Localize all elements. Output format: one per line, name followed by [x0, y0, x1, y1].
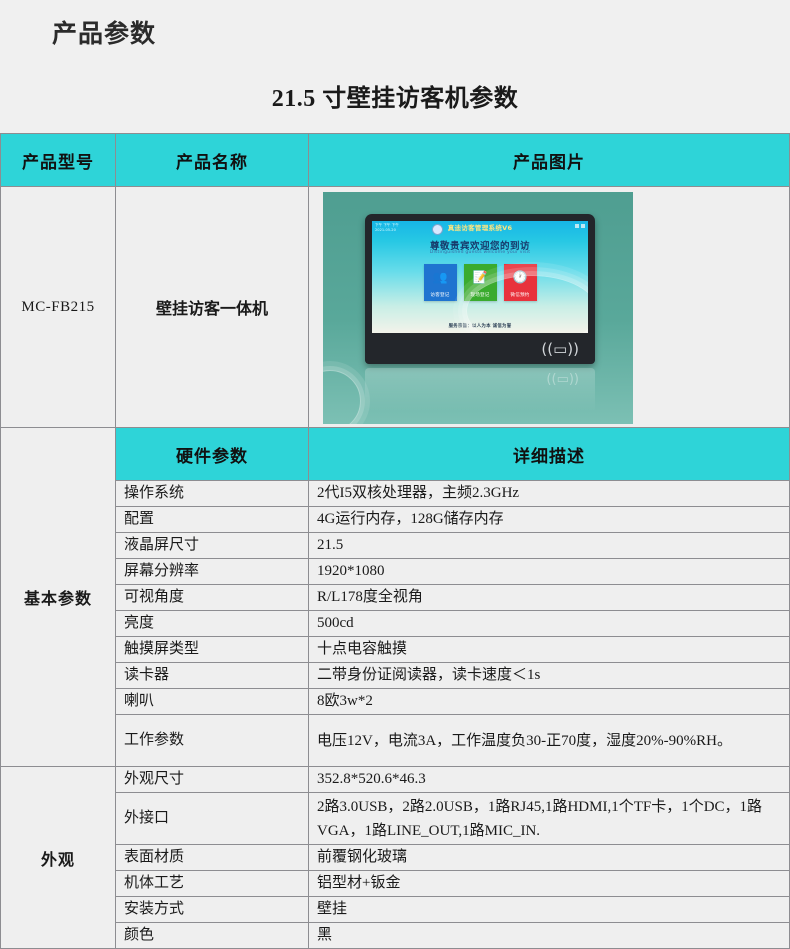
row-value: 电压12V，电流3A，工作温度负30-正70度，湿度20%-90%RH。 — [309, 715, 790, 767]
row-label: 液晶屏尺寸 — [116, 533, 309, 559]
product-name-value: 壁挂访客一体机 — [116, 187, 309, 428]
row-label: 表面材质 — [116, 845, 309, 871]
screen-welcome-en: Distinguished guests welcome your visit — [372, 250, 588, 255]
table-header-row: 产品型号 产品名称 产品图片 — [1, 134, 790, 187]
tile-label: 现场登记 — [464, 292, 497, 298]
tile-wechat-appointment[interactable]: 🕐 微信预约 — [504, 264, 537, 301]
header-hardware-param: 硬件参数 — [116, 428, 309, 481]
close-icon[interactable] — [581, 224, 585, 228]
row-label: 外观尺寸 — [116, 767, 309, 793]
row-value: 铝型材+钣金 — [309, 871, 790, 897]
row-value: 十点电容触摸 — [309, 637, 790, 663]
row-value: 1920*1080 — [309, 559, 790, 585]
card-reader-reflection-icon: ((▭)) — [546, 372, 579, 387]
section-title: 21.5 寸壁挂访客机参数 — [0, 78, 790, 113]
row-label: 可视角度 — [116, 585, 309, 611]
tile-onsite-registration[interactable]: 📝 现场登记 — [464, 264, 497, 301]
hardware-header-row: 基本参数 硬件参数 详细描述 — [1, 428, 790, 481]
product-model-value: MC-FB215 — [1, 187, 116, 428]
form-edit-icon: 📝 — [464, 270, 497, 284]
table-row: 安装方式 壁挂 — [1, 897, 790, 923]
row-value: 壁挂 — [309, 897, 790, 923]
screen-footer-slogan: 服务宗旨：以人为本 诚信为誉 — [372, 323, 588, 329]
product-photo-cell: 下午 下午 下午 2021-05-20 真迪访客管理系统V6 尊敬贵宾欢迎您的到… — [309, 187, 790, 428]
group-label-basic: 基本参数 — [1, 428, 116, 767]
screen-app-title: 真迪访客管理系统V6 — [372, 223, 588, 234]
device-bottom-bezel: ((▭)) — [365, 335, 595, 364]
row-value: 4G运行内存，128G储存内存 — [309, 507, 790, 533]
card-reader-icon: ((▭)) — [541, 340, 579, 358]
row-label: 触摸屏类型 — [116, 637, 309, 663]
row-label: 亮度 — [116, 611, 309, 637]
product-photo-stage: 下午 下午 下午 2021-05-20 真迪访客管理系统V6 尊敬贵宾欢迎您的到… — [323, 192, 633, 424]
header-product-model: 产品型号 — [1, 134, 116, 187]
table-row: 外接口 2路3.0USB，2路2.0USB，1路RJ45,1路HDMI,1个TF… — [1, 793, 790, 845]
row-label: 外接口 — [116, 793, 309, 845]
row-label: 机体工艺 — [116, 871, 309, 897]
row-value: 500cd — [309, 611, 790, 637]
appointment-clock-icon: 🕐 — [504, 270, 537, 284]
row-value: 8欧3w*2 — [309, 689, 790, 715]
minimize-icon[interactable] — [575, 224, 579, 228]
table-row: 外观 外观尺寸 352.8*520.6*46.3 — [1, 767, 790, 793]
header-product-name: 产品名称 — [116, 134, 309, 187]
row-label: 喇叭 — [116, 689, 309, 715]
decorative-wave-left — [323, 370, 361, 424]
table-row: 触摸屏类型 十点电容触摸 — [1, 637, 790, 663]
row-value: 2路3.0USB，2路2.0USB，1路RJ45,1路HDMI,1个TF卡，1个… — [309, 793, 790, 845]
table-row: 亮度 500cd — [1, 611, 790, 637]
table-row: 表面材质 前覆钢化玻璃 — [1, 845, 790, 871]
tile-visitor-registration[interactable]: 👥 访客登记 — [424, 264, 457, 301]
header-hardware-desc: 详细描述 — [309, 428, 790, 481]
group-label-appearance: 外观 — [1, 767, 116, 949]
table-row: 颜色 黑 — [1, 923, 790, 949]
row-label: 读卡器 — [116, 663, 309, 689]
row-value: 黑 — [309, 923, 790, 949]
spec-table: 产品型号 产品名称 产品图片 MC-FB215 壁挂访客一体机 下午 下午 下午… — [0, 133, 790, 949]
window-controls[interactable] — [575, 224, 585, 228]
tile-label: 微信预约 — [504, 292, 537, 298]
row-value: 2代I5双核处理器，主频2.3GHz — [309, 481, 790, 507]
row-value: 二带身份证阅读器，读卡速度＜1s — [309, 663, 790, 689]
row-label: 操作系统 — [116, 481, 309, 507]
table-row: 液晶屏尺寸 21.5 — [1, 533, 790, 559]
table-row: 读卡器 二带身份证阅读器，读卡速度＜1s — [1, 663, 790, 689]
kiosk-screen: 下午 下午 下午 2021-05-20 真迪访客管理系统V6 尊敬贵宾欢迎您的到… — [372, 221, 588, 333]
row-label: 颜色 — [116, 923, 309, 949]
page-title: 产品参数 — [52, 14, 156, 50]
table-row: 机体工艺 铝型材+钣金 — [1, 871, 790, 897]
row-value: 前覆钢化玻璃 — [309, 845, 790, 871]
row-value: 21.5 — [309, 533, 790, 559]
table-row: 工作参数 电压12V，电流3A，工作温度负30-正70度，湿度20%-90%RH… — [1, 715, 790, 767]
screen-tiles: 👥 访客登记 📝 现场登记 🕐 微信预约 — [372, 264, 588, 301]
row-value: R/L178度全视角 — [309, 585, 790, 611]
tile-label: 访客登记 — [424, 292, 457, 298]
kiosk-device: 下午 下午 下午 2021-05-20 真迪访客管理系统V6 尊敬贵宾欢迎您的到… — [365, 214, 595, 364]
row-value: 352.8*520.6*46.3 — [309, 767, 790, 793]
device-reflection: ((▭)) — [365, 368, 595, 412]
row-label: 工作参数 — [116, 715, 309, 767]
table-row: 配置 4G运行内存，128G储存内存 — [1, 507, 790, 533]
table-row: 喇叭 8欧3w*2 — [1, 689, 790, 715]
visitors-icon: 👥 — [424, 270, 457, 284]
table-row: 操作系统 2代I5双核处理器，主频2.3GHz — [1, 481, 790, 507]
header-product-photo: 产品图片 — [309, 134, 790, 187]
row-label: 配置 — [116, 507, 309, 533]
row-label: 屏幕分辨率 — [116, 559, 309, 585]
table-row: 可视角度 R/L178度全视角 — [1, 585, 790, 611]
product-row: MC-FB215 壁挂访客一体机 下午 下午 下午 2021-05-20 真迪访… — [1, 187, 790, 428]
row-label: 安装方式 — [116, 897, 309, 923]
table-row: 屏幕分辨率 1920*1080 — [1, 559, 790, 585]
